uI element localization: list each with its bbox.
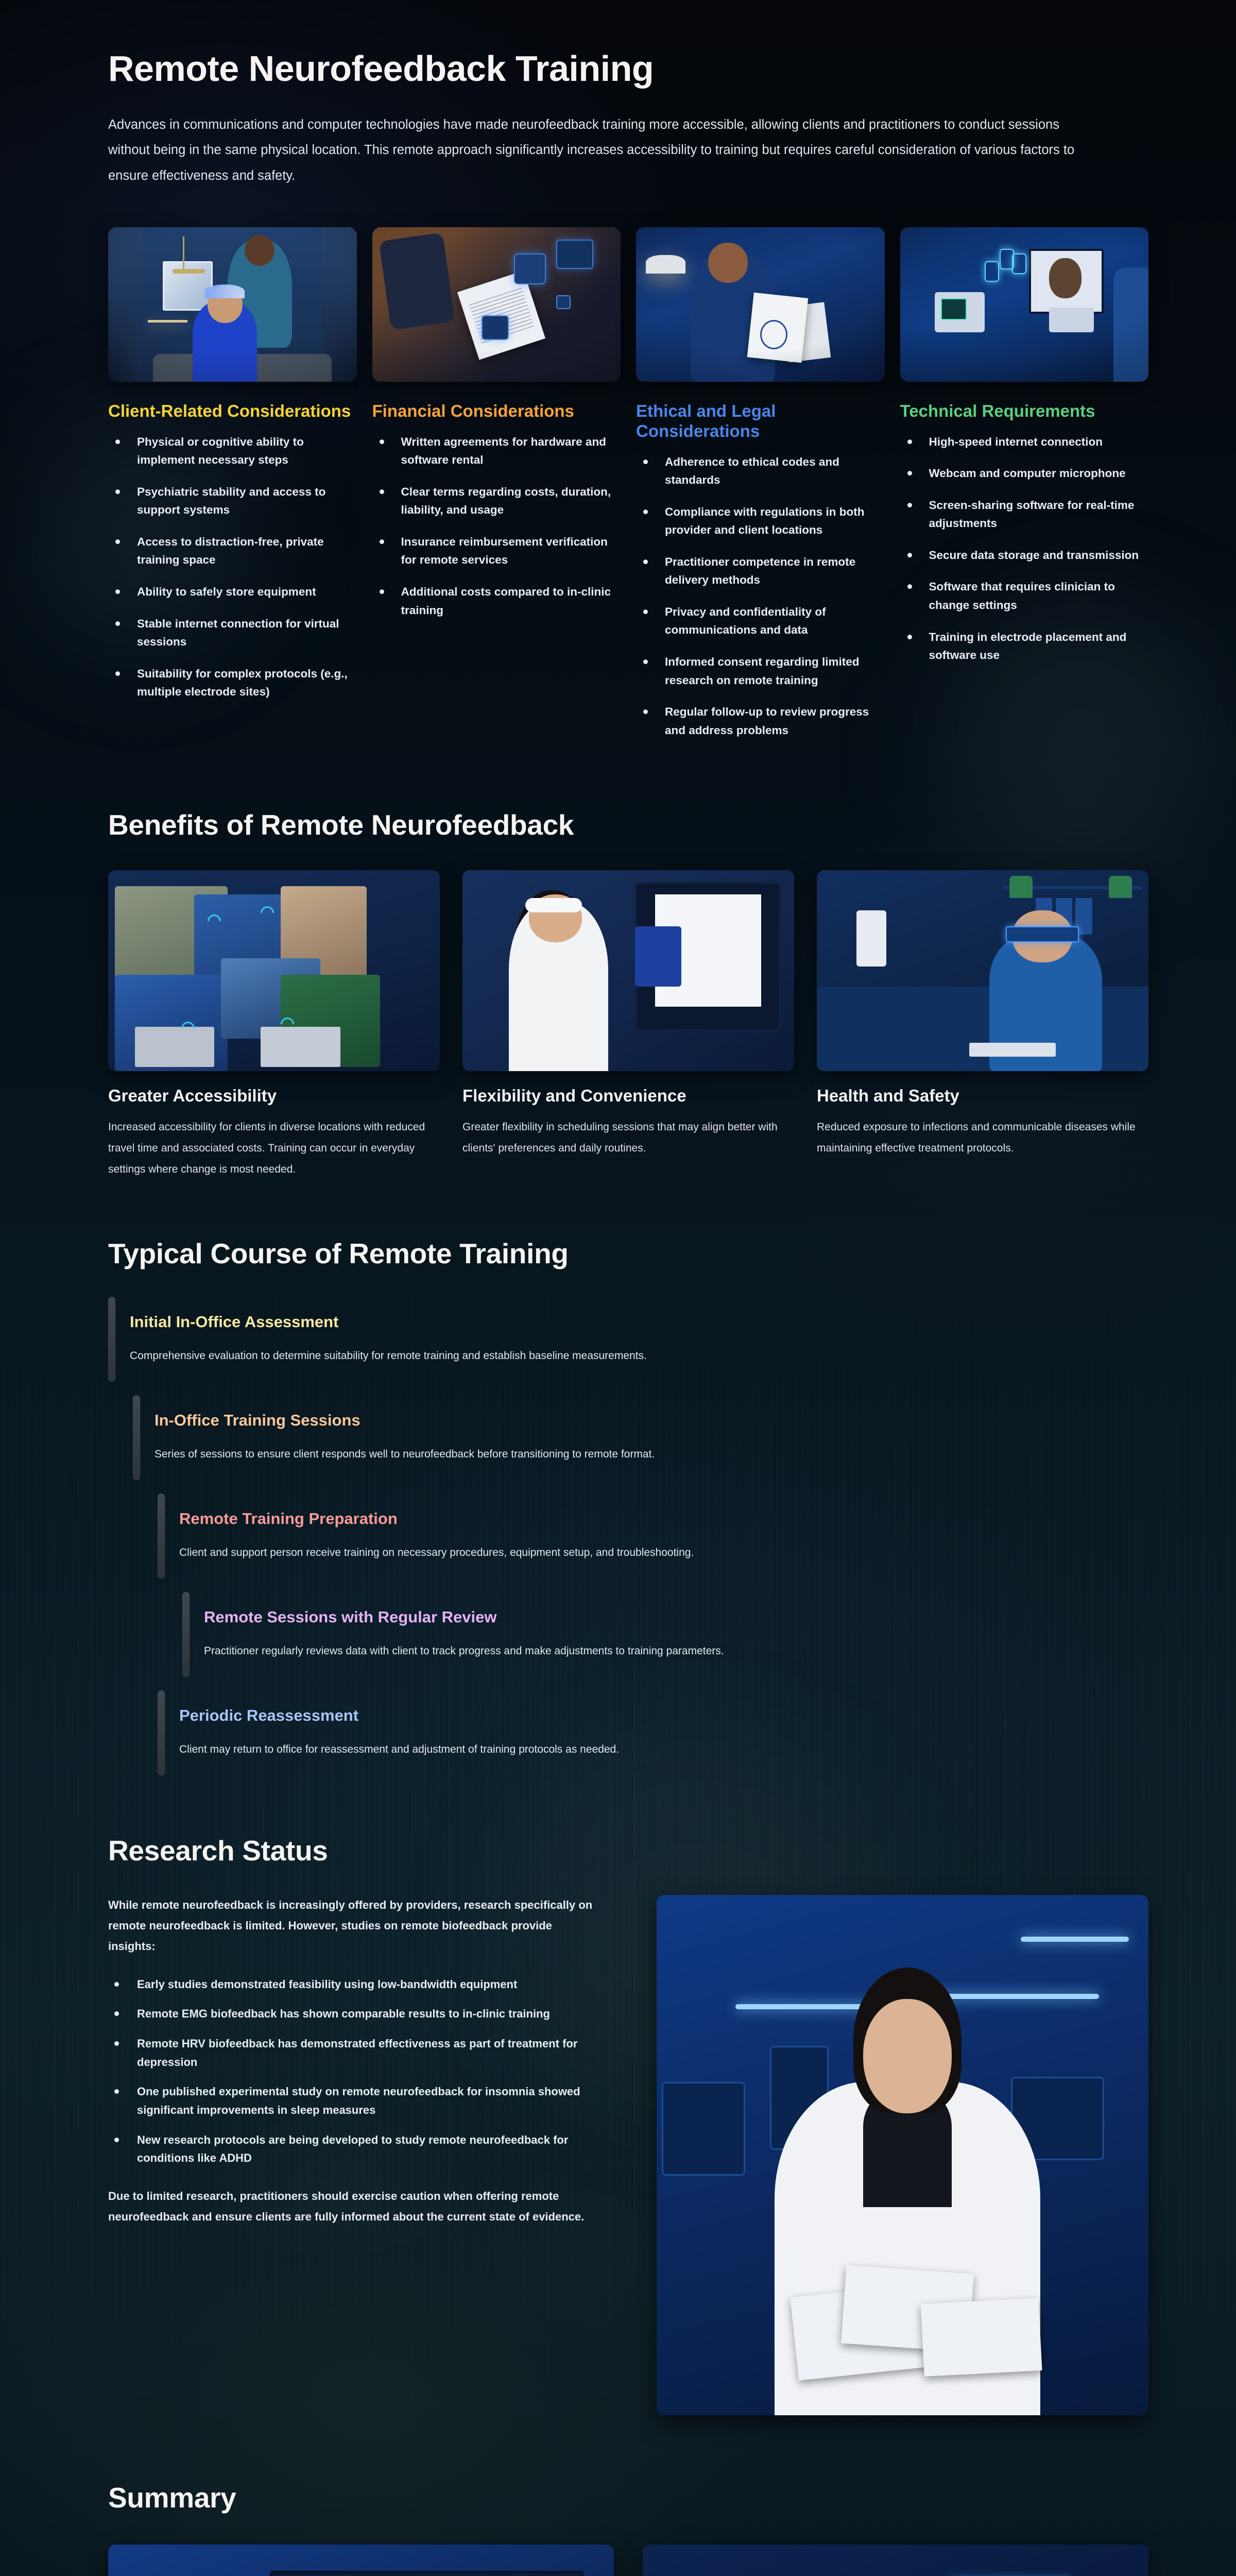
bullet-list-technical: High-speed internet connection Webcam an…: [900, 433, 1149, 665]
list-item: New research protocols are being develop…: [108, 2131, 600, 2167]
timeline-step-periodic-reassessment: Periodic Reassessment Client may return …: [158, 1690, 1148, 1775]
timeline-bar: [133, 1395, 140, 1480]
image-home-office-safety-session: [817, 870, 1148, 1071]
list-item: Early studies demonstrated feasibility u…: [108, 1975, 600, 1994]
column-heading-financial: Financial Considerations: [372, 401, 621, 421]
section-title-benefits: Benefits of Remote Neurofeedback: [108, 809, 1148, 841]
list-item: Privacy and confidentiality of communica…: [636, 603, 885, 639]
list-item: One published experimental study on remo…: [108, 2082, 600, 2119]
image-clinician-remote-session-monitor: DURATION 345 PROGRESS SESSIONS 189%: [108, 2545, 614, 2576]
list-item: Additional costs compared to in-clinic t…: [372, 583, 621, 619]
research-outro: Due to limited research, practitioners s…: [108, 2186, 600, 2227]
timeline-step-title: In-Office Training Sessions: [154, 1411, 1148, 1430]
timeline-step-title: Remote Sessions with Regular Review: [204, 1607, 1148, 1626]
research-section: Research Status While remote neurofeedba…: [108, 1835, 1148, 2415]
column-heading-client-related: Client-Related Considerations: [108, 401, 357, 421]
timeline-step-title: Periodic Reassessment: [179, 1706, 1148, 1725]
page-root: Remote Neurofeedback Training Advances i…: [0, 0, 1236, 2576]
page-lead-paragraph: Advances in communications and computer …: [108, 112, 1087, 189]
timeline-step-description: Client may return to office for reassess…: [179, 1739, 983, 1760]
list-item: Practitioner competence in remote delive…: [636, 553, 885, 589]
considerations-column-technical: Technical Requirements High-speed intern…: [900, 401, 1149, 678]
list-item: Regular follow-up to review progress and…: [636, 703, 885, 739]
top-image-strip: [108, 227, 1148, 382]
image-hipaa-compliance-review: [636, 227, 885, 382]
timeline-step-initial-assessment: Initial In-Office Assessment Comprehensi…: [108, 1297, 1148, 1382]
benefits-section: Benefits of Remote Neurofeedback Greater…: [108, 809, 1148, 1180]
section-title-timeline: Typical Course of Remote Training: [108, 1238, 1148, 1270]
benefits-grid: Greater Accessibility Increased accessib…: [108, 870, 1148, 1180]
timeline-step-description: Comprehensive evaluation to determine su…: [130, 1346, 933, 1366]
list-item: High-speed internet connection: [900, 433, 1149, 451]
image-scheduling-calendar-session: [462, 870, 794, 1071]
timeline-step-remote-sessions: Remote Sessions with Regular Review Prac…: [182, 1592, 1148, 1677]
timeline-step-description: Client and support person receive traini…: [179, 1543, 983, 1563]
list-item: Psychiatric stability and access to supp…: [108, 483, 357, 519]
considerations-column-ethical-legal: Ethical and Legal Considerations Adheren…: [636, 401, 885, 753]
considerations-grid: Client-Related Considerations Physical o…: [108, 401, 1148, 753]
image-diverse-clients-collage: [108, 870, 440, 1071]
list-item: Stable internet connection for virtual s…: [108, 615, 357, 651]
list-item: Access to distraction-free, private trai…: [108, 533, 357, 569]
list-item: Secure data storage and transmission: [900, 546, 1149, 565]
timeline-bar: [158, 1494, 165, 1579]
timeline-section: Typical Course of Remote Training Initia…: [108, 1238, 1148, 1775]
timeline-step-title: Initial In-Office Assessment: [130, 1312, 1148, 1331]
image-contract-and-devices: [372, 227, 621, 382]
timeline-bar: [158, 1690, 165, 1775]
benefit-body: Greater flexibility in scheduling sessio…: [462, 1117, 794, 1159]
column-heading-ethical-legal: Ethical and Legal Considerations: [636, 401, 885, 442]
list-item: Compliance with regulations in both prov…: [636, 503, 885, 539]
image-home-eeg-session: [108, 227, 357, 382]
summary-images-grid: DURATION 345 PROGRESS SESSIONS 189%: [108, 2545, 1148, 2576]
list-item: Written agreements for hardware and soft…: [372, 433, 621, 469]
list-item: Suitability for complex protocols (e.g.,…: [108, 665, 357, 701]
page-title: Remote Neurofeedback Training: [108, 0, 1148, 89]
section-title-summary: Summary: [108, 2482, 1148, 2514]
list-item: Webcam and computer microphone: [900, 464, 1149, 483]
image-ar-neurofeedback-interface: [643, 2545, 1148, 2576]
benefit-body: Reduced exposure to infections and commu…: [817, 1117, 1148, 1159]
research-grid: While remote neurofeedback is increasing…: [108, 1895, 1148, 2415]
list-item: Screen-sharing software for real-time ad…: [900, 496, 1149, 533]
timeline-step-title: Remote Training Preparation: [179, 1509, 1148, 1528]
research-intro: While remote neurofeedback is increasing…: [108, 1895, 600, 1957]
column-heading-technical: Technical Requirements: [900, 401, 1149, 421]
timeline-step-remote-preparation: Remote Training Preparation Client and s…: [158, 1494, 1148, 1579]
timeline-step-description: Practitioner regularly reviews data with…: [204, 1641, 1007, 1662]
benefit-card-health-safety: Health and Safety Reduced exposure to in…: [817, 870, 1148, 1180]
research-text-column: While remote neurofeedback is increasing…: [108, 1895, 600, 2227]
considerations-column-financial: Financial Considerations Written agreeme…: [372, 401, 621, 633]
timeline-step-in-office-sessions: In-Office Training Sessions Series of se…: [133, 1395, 1148, 1480]
list-item: Physical or cognitive ability to impleme…: [108, 433, 357, 469]
section-title-research: Research Status: [108, 1835, 1148, 1867]
summary-section: Summary DURATION 345 PROGRESS SESSIONS 1…: [108, 2482, 1148, 2576]
list-item: Ability to safely store equipment: [108, 583, 357, 601]
benefit-card-accessibility: Greater Accessibility Increased accessib…: [108, 870, 440, 1180]
list-item: Informed consent regarding limited resea…: [636, 653, 885, 689]
image-researcher-reviewing-eeg-printouts: [657, 1895, 1148, 2415]
list-item: Insurance reimbursement verification for…: [372, 533, 621, 569]
benefit-body: Increased accessibility for clients in d…: [108, 1117, 440, 1180]
benefit-title: Health and Safety: [817, 1086, 1148, 1106]
considerations-column-client: Client-Related Considerations Physical o…: [108, 401, 357, 715]
list-item: Remote EMG biofeedback has shown compara…: [108, 2005, 600, 2023]
bullet-list-client: Physical or cognitive ability to impleme…: [108, 433, 357, 701]
list-item: Remote HRV biofeedback has demonstrated …: [108, 2035, 600, 2071]
list-item: Adherence to ethical codes and standards: [636, 453, 885, 489]
list-item: Training in electrode placement and soft…: [900, 628, 1149, 665]
benefit-title: Flexibility and Convenience: [462, 1086, 794, 1106]
benefit-title: Greater Accessibility: [108, 1086, 440, 1106]
image-telehealth-workstation: [900, 227, 1149, 382]
bullet-list-ethical-legal: Adherence to ethical codes and standards…: [636, 453, 885, 740]
list-item: Software that requires clinician to chan…: [900, 578, 1149, 614]
bullet-list-financial: Written agreements for hardware and soft…: [372, 433, 621, 619]
research-findings-list: Early studies demonstrated feasibility u…: [108, 1975, 600, 2167]
benefit-card-flexibility: Flexibility and Convenience Greater flex…: [462, 870, 794, 1180]
timeline-bar: [182, 1592, 190, 1677]
timeline-step-description: Series of sessions to ensure client resp…: [154, 1444, 958, 1465]
timeline-bar: [108, 1297, 115, 1382]
list-item: Clear terms regarding costs, duration, l…: [372, 483, 621, 519]
